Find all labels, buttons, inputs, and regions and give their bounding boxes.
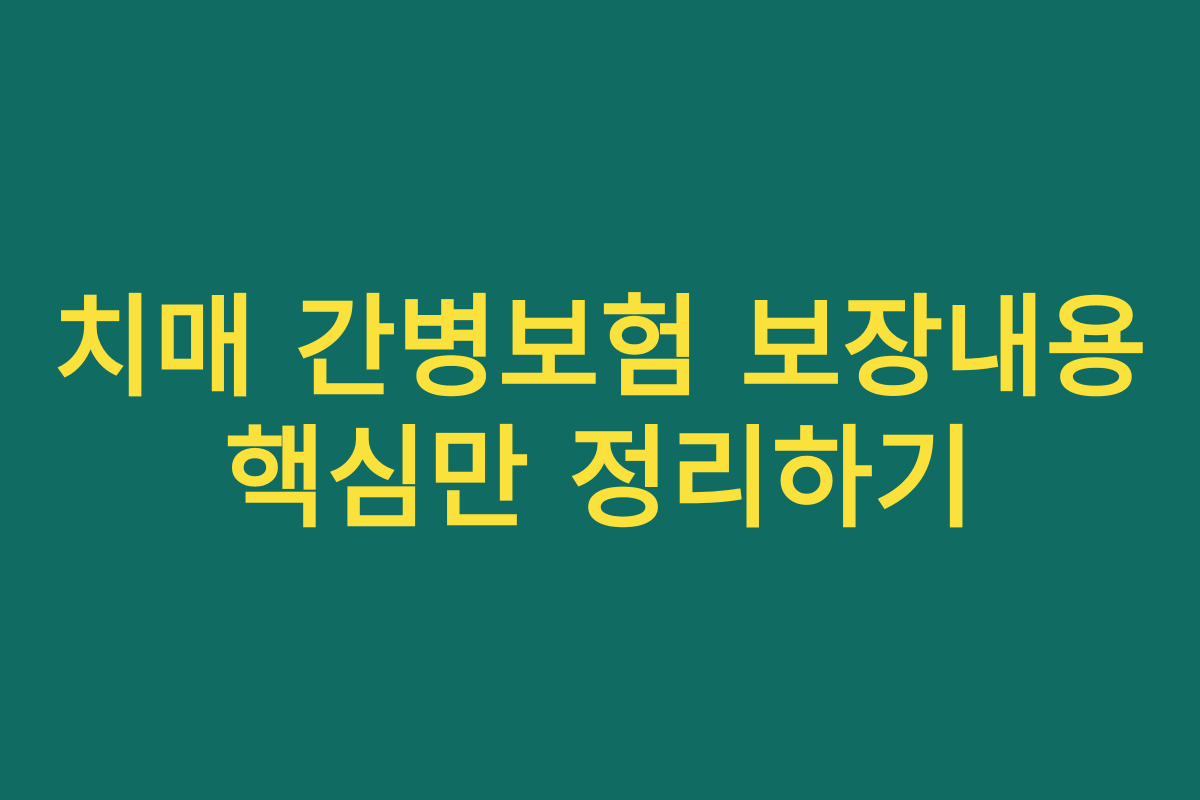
title-block: 치매 간병보험 보장내용 핵심만 정리하기 — [0, 283, 1200, 545]
title-line-2: 핵심만 정리하기 — [225, 414, 976, 545]
title-line-1: 치매 간병보험 보장내용 — [53, 283, 1148, 414]
thumbnail-card: 치매 간병보험 보장내용 핵심만 정리하기 — [0, 0, 1200, 800]
